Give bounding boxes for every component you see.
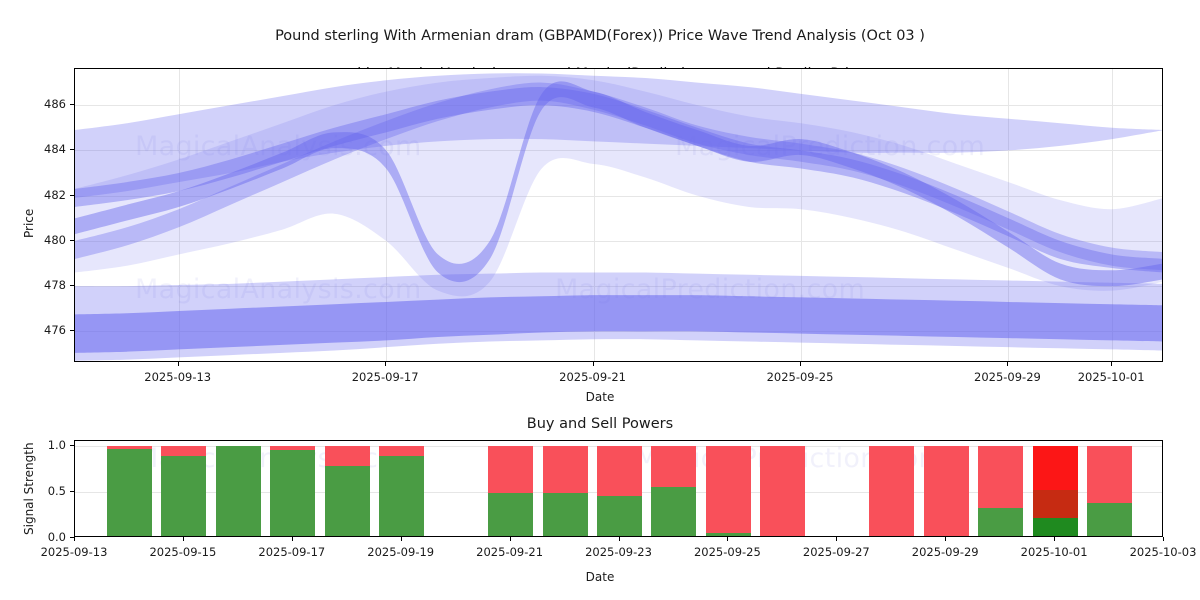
price-wave-plot: MagicalAnalysis.comMagicalPrediction.com… <box>74 68 1163 362</box>
x-tickmark <box>1163 537 1164 541</box>
x-tick-label: 2025-09-29 <box>912 545 979 559</box>
y-tick-label: 0.5 <box>48 484 66 498</box>
y-tickmark <box>70 104 74 105</box>
sell-power-segment <box>1087 446 1132 503</box>
signal-bar[interactable] <box>1033 446 1078 537</box>
x-tickmark <box>1111 362 1112 366</box>
signal-bar[interactable] <box>1087 446 1132 537</box>
x-tickmark <box>510 537 511 541</box>
sell-power-segment <box>325 446 370 466</box>
y-tickmark <box>70 195 74 196</box>
x-tickmark <box>1007 362 1008 366</box>
y-tick-label: 484 <box>44 142 66 156</box>
x-tick-label: 2025-09-19 <box>367 545 434 559</box>
y-tick-label: 476 <box>44 323 66 337</box>
signal-bar[interactable] <box>924 446 969 537</box>
chart-page: Pound sterling With Armenian dram (GBPAM… <box>0 0 1200 600</box>
buy-power-segment <box>379 456 424 537</box>
x-tick-label: 2025-09-17 <box>258 545 325 559</box>
sell-power-segment <box>706 446 751 534</box>
sell-power-segment <box>924 446 969 537</box>
x-tick-label: 2025-09-27 <box>803 545 870 559</box>
signal-bar[interactable] <box>107 446 152 537</box>
buy-power-segment <box>651 487 696 537</box>
x-tickmark <box>727 537 728 541</box>
buy-power-segment <box>543 493 588 537</box>
signal-bar[interactable] <box>488 446 533 537</box>
y-tick-label: 0.0 <box>48 530 66 544</box>
x-tick-label: 2025-09-13 <box>41 545 108 559</box>
x-tick-label: 2025-09-13 <box>144 370 211 384</box>
signal-bar[interactable] <box>869 446 914 537</box>
signal-bar[interactable] <box>651 446 696 537</box>
signal-bar[interactable] <box>216 446 261 537</box>
x-tickmark <box>836 537 837 541</box>
sell-power-segment <box>543 446 588 493</box>
signal-bar[interactable] <box>706 446 751 537</box>
x-tick-label: 2025-09-17 <box>352 370 419 384</box>
x-tickmark <box>385 362 386 366</box>
y-tickmark <box>70 285 74 286</box>
y-tickmark <box>70 240 74 241</box>
sell-power-overlap-segment <box>1033 490 1078 518</box>
x-tick-label: 2025-10-01 <box>1021 545 1088 559</box>
sell-power-segment <box>1033 446 1078 490</box>
x-tick-label: 2025-09-21 <box>476 545 543 559</box>
sell-power-segment <box>869 446 914 537</box>
signal-bar[interactable] <box>325 446 370 537</box>
wave-band-group <box>75 69 1163 362</box>
x-tick-label: 2025-09-29 <box>974 370 1041 384</box>
buy-power-segment <box>1087 503 1132 537</box>
signal-strength-axis-label: Signal Strength <box>22 442 36 535</box>
x-tickmark <box>619 537 620 541</box>
signal-bar[interactable] <box>270 446 315 537</box>
buy-power-segment <box>325 466 370 537</box>
buy-power-segment <box>270 450 315 537</box>
signal-bar[interactable] <box>597 446 642 537</box>
y-tick-label: 1.0 <box>48 438 66 452</box>
sell-power-segment <box>488 446 533 493</box>
signal-bar[interactable] <box>760 446 805 537</box>
date-axis-label-top: Date <box>0 390 1200 404</box>
buy-power-segment <box>1033 518 1078 537</box>
buy-power-segment <box>706 533 751 537</box>
signal-bar[interactable] <box>543 446 588 537</box>
sell-power-segment <box>651 446 696 488</box>
sell-power-segment <box>978 446 1023 508</box>
x-tick-label: 2025-09-15 <box>149 545 216 559</box>
x-tickmark <box>593 362 594 366</box>
x-tick-label: 2025-09-25 <box>694 545 761 559</box>
date-axis-label-bottom: Date <box>0 570 1200 584</box>
buy-power-segment <box>216 446 261 537</box>
buy-sell-plot: MagicalAnalysis.comMagicalPrediction.com <box>74 440 1163 537</box>
price-axis-label: Price <box>22 209 36 238</box>
x-tick-label: 2025-10-01 <box>1078 370 1145 384</box>
buy-sell-title: Buy and Sell Powers <box>0 416 1200 432</box>
sell-power-segment <box>760 446 805 537</box>
x-tickmark <box>1054 537 1055 541</box>
sell-power-segment <box>161 446 206 456</box>
sell-power-segment <box>379 446 424 456</box>
x-tickmark <box>178 362 179 366</box>
y-tickmark <box>70 491 74 492</box>
buy-power-segment <box>597 496 642 537</box>
x-tickmark <box>945 537 946 541</box>
y-tick-label: 482 <box>44 188 66 202</box>
y-tickmark <box>70 445 74 446</box>
x-tick-label: 2025-09-23 <box>585 545 652 559</box>
signal-bar[interactable] <box>978 446 1023 537</box>
x-tick-label: 2025-09-21 <box>559 370 626 384</box>
y-tickmark <box>70 149 74 150</box>
x-tickmark <box>292 537 293 541</box>
signal-bar[interactable] <box>379 446 424 537</box>
buy-power-segment <box>107 449 152 537</box>
y-tick-label: 478 <box>44 278 66 292</box>
x-tickmark <box>800 362 801 366</box>
y-tickmark <box>70 330 74 331</box>
signal-bar[interactable] <box>161 446 206 537</box>
y-tick-label: 486 <box>44 97 66 111</box>
title-line-1: Pound sterling With Armenian dram (GBPAM… <box>0 27 1200 46</box>
y-tick-label: 480 <box>44 233 66 247</box>
x-tickmark <box>401 537 402 541</box>
buy-power-segment <box>978 508 1023 538</box>
sell-power-segment <box>597 446 642 497</box>
x-tickmark <box>183 537 184 541</box>
x-tick-label: 2025-09-25 <box>767 370 834 384</box>
x-tick-label: 2025-10-03 <box>1130 545 1197 559</box>
buy-power-segment <box>488 493 533 537</box>
x-tickmark <box>74 537 75 541</box>
buy-power-segment <box>161 456 206 537</box>
